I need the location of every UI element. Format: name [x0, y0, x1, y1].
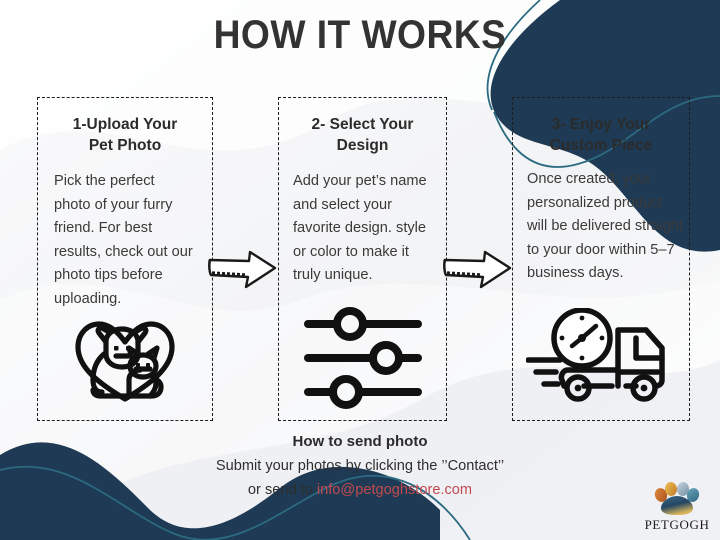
step-1-icon-wrap: [38, 303, 212, 413]
slider-1-knob[interactable]: [337, 311, 363, 337]
logo-wordmark: PETGOGH: [645, 517, 710, 533]
step-1-title: 1-Upload Your Pet Photo: [38, 114, 212, 156]
step-3-icon-wrap: [513, 303, 689, 413]
step-1-title-line2: Pet Photo: [89, 137, 161, 154]
step-2-icon-wrap: [279, 303, 446, 413]
step-3-title-line1: 3- Enjoy Your: [552, 116, 650, 133]
brand-logo[interactable]: PETGOGH: [641, 482, 713, 536]
paw-print-icon: [654, 482, 700, 516]
dog-eye-right: [126, 346, 131, 351]
step-3-body: Once created, your personalized product …: [527, 168, 683, 286]
step-2-title-line2: Design: [337, 137, 389, 154]
right-arrow-icon: [206, 247, 280, 291]
page-title: HOW IT WORKS: [25, 8, 695, 62]
truck-wheel-front-hub: [641, 385, 648, 392]
clock-tick-9: [560, 336, 565, 341]
arrow-outline: [444, 252, 510, 287]
step-2-title: 2- Select Your Design: [279, 114, 446, 156]
right-arrow-icon: [441, 247, 515, 291]
sliders-icon: [300, 306, 426, 410]
step-card-1: 1-Upload Your Pet Photo Pick the perfect…: [37, 97, 213, 421]
footer-heading: How to send photo: [0, 432, 720, 452]
clock-tick-6: [580, 356, 585, 361]
step-1-title-line1: 1-Upload Your: [73, 116, 178, 133]
clock-center: [578, 334, 586, 342]
arrow-step1-to-step2: [206, 247, 280, 296]
contact-email-link[interactable]: info@petgoghstore.com: [317, 482, 472, 498]
step-card-3: 3- Enjoy Your Custom Piece Once created,…: [512, 97, 690, 421]
arrow-outline: [209, 252, 275, 287]
clock-tick-3: [600, 336, 605, 341]
delivery-truck-clock-icon: [526, 308, 676, 408]
infographic-canvas: HOW IT WORKS 1-Upload Your Pet Photo Pic…: [0, 0, 720, 540]
cat-eye-right: [146, 363, 150, 367]
step-1-body: Pick the perfect photo of your furry fri…: [54, 170, 194, 311]
step-2-body: Add your pet’s name and select your favo…: [293, 170, 439, 288]
truck-wheel-rear-hub: [575, 385, 582, 392]
slider-2-knob[interactable]: [373, 345, 399, 371]
slider-3-knob[interactable]: [333, 379, 359, 405]
arrow-step2-to-step3: [441, 247, 515, 296]
step-2-title-line1: 2- Select Your: [312, 116, 414, 133]
dog-cat-heart-icon: [66, 306, 184, 410]
footer-line-1: Submit your photos by clicking the ’’Con…: [0, 456, 720, 477]
step-3-title: 3- Enjoy Your Custom Piece: [513, 114, 689, 156]
dog-eye-left: [114, 346, 119, 351]
cat-eye-left: [136, 363, 140, 367]
step-card-2: 2- Select Your Design Add your pet’s nam…: [278, 97, 447, 421]
footer-line-2: or send to info@petgoghstore.com: [0, 480, 720, 501]
clock-tick-12: [580, 316, 585, 321]
footer-line-2-prefix: or send to: [248, 482, 317, 498]
step-3-title-line2: Custom Piece: [550, 137, 653, 154]
